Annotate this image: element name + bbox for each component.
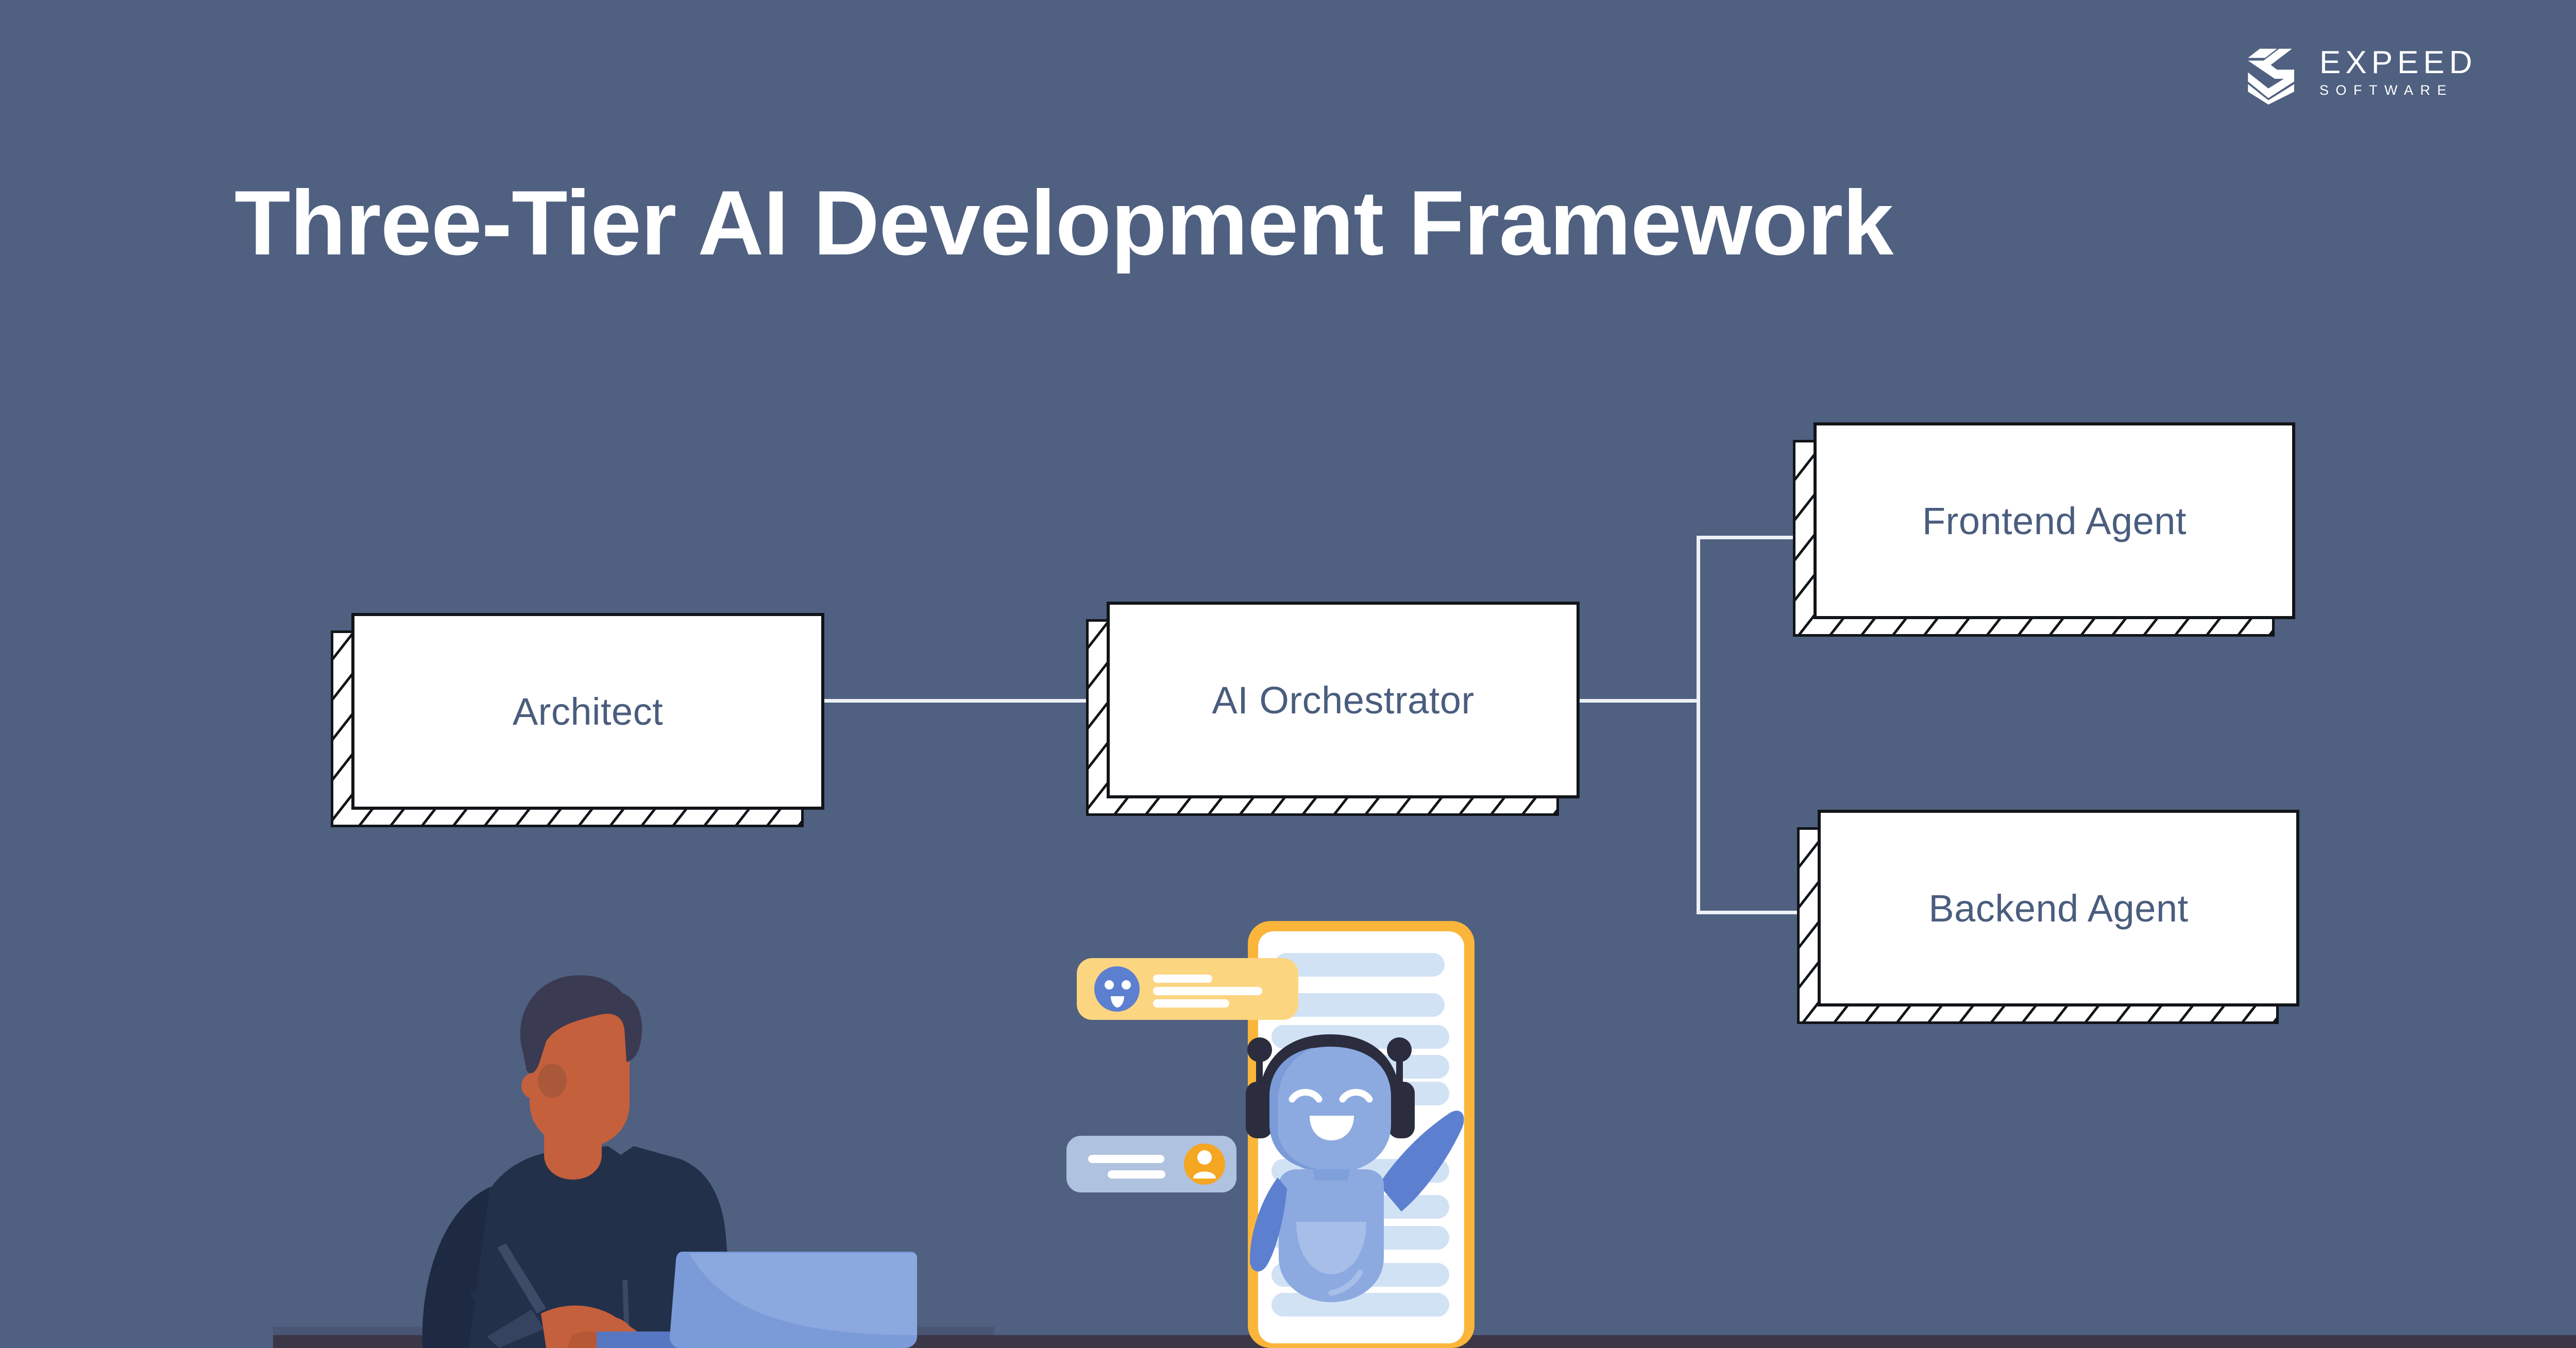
person-at-laptop-illustration [392,953,917,1348]
node-face: Frontend Agent [1814,422,2295,619]
node-label: Architect [513,690,663,733]
slide-canvas: EXPEED SOFTWARE Three-Tier AI Developmen… [0,0,2576,1348]
node-label: Backend Agent [1928,886,2188,930]
node-label: Frontend Agent [1922,499,2187,543]
chatbot-on-phone-illustration [1056,917,1484,1348]
logo-primary-text: EXPEED [2319,47,2477,79]
connector-architect-to-orchestrator [824,699,1108,703]
connector-orchestrator-stem [1580,699,1700,703]
node-architect[interactable]: Architect [351,613,824,810]
node-face: Architect [351,613,824,810]
chat-bubble-bot [1077,958,1298,1020]
node-face: Backend Agent [1818,810,2299,1006]
node-face: AI Orchestrator [1107,602,1580,798]
connector-vertical-bus [1697,536,1700,914]
page-title: Three-Tier AI Development Framework [234,170,2347,276]
node-frontend-agent[interactable]: Frontend Agent [1814,422,2295,619]
expeed-chevron-stack-icon [2244,40,2308,105]
node-label: AI Orchestrator [1212,678,1474,722]
node-ai-orchestrator[interactable]: AI Orchestrator [1107,602,1580,798]
chat-bubble-user [1066,1136,1236,1192]
expeed-software-logo: EXPEED SOFTWARE [2244,39,2506,106]
logo-secondary-text: SOFTWARE [2319,83,2477,97]
node-backend-agent[interactable]: Backend Agent [1818,810,2299,1006]
